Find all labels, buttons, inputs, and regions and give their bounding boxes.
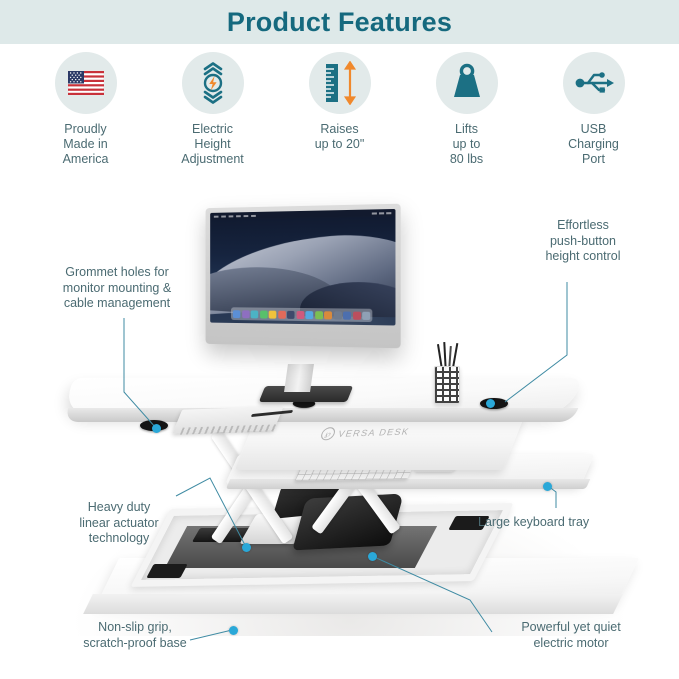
dock-icon [353,311,361,319]
usa-flag-icon [55,52,117,114]
feature-lift-capacity: Lifts up to 80 lbs [408,52,526,167]
menu-bar-status-icons [372,212,392,214]
dock-icon [305,311,313,319]
weight-icon [436,52,498,114]
dock-icon [315,311,323,319]
callout-dot-push [486,399,495,408]
feature-electric-height: Electric Height Adjustment [154,52,272,167]
feature-raises-height: Raises up to 20" [281,52,399,152]
page-title: Product Features [227,7,452,38]
feature-usb-port: USB Charging Port [535,52,653,167]
brand-logo-text: VERSA DESK [337,426,411,438]
dock-icon [296,310,304,318]
callout-electric-motor: Powerful yet quiet electric motor [478,620,664,651]
keyboard-tray-edge [226,479,590,489]
feature-label: Raises up to 20" [315,122,365,152]
callout-non-slip-base: Non-slip grip, scratch-proof base [40,620,230,651]
feature-label: Lifts up to 80 lbs [450,122,483,167]
monitor-screen [210,209,395,326]
usb-icon [563,52,625,114]
dock-icon [260,310,268,318]
feature-label: USB Charging Port [568,122,619,167]
callout-dot-nonslip [229,626,238,635]
dock [231,307,372,322]
feature-label: Electric Height Adjustment [181,122,244,167]
callout-push-button: Effortless push-button height control [498,218,668,265]
pencil-cup [434,366,460,404]
callout-dot-actuator [242,543,251,552]
brand-logo-mark: ℘ [319,427,336,440]
callout-dot-motor [368,552,377,561]
dock-icon [362,311,370,319]
dock-icon [343,311,351,319]
dock-icon [233,310,240,318]
monitor-stand-neck [284,364,314,392]
callout-keyboard-tray: Large keyboard tray [478,515,656,531]
menu-bar [210,209,395,220]
header-banner: Product Features [0,0,679,44]
desk-front-edge [83,594,623,614]
callout-grommet-holes: Grommet holes for monitor mounting & cab… [22,265,212,312]
dock-icon [324,311,332,319]
product-features-infographic: Product Features [0,0,679,679]
callout-dot-grommet [152,424,161,433]
ruler-arrow-icon [309,52,371,114]
dock-icon [269,310,277,318]
dock-icon [242,310,250,318]
dock-icon [333,311,341,319]
dock-icon [287,310,295,318]
callout-linear-actuator: Heavy duty linear actuator technology [44,500,194,547]
callout-dot-keyboard [543,482,552,491]
feature-icon-strip: Proudly Made in America Electric Height … [0,52,679,184]
upper-surface-edge [64,408,579,422]
monitor [206,204,401,349]
electric-height-icon [182,52,244,114]
dock-icon [278,310,286,318]
feature-made-in-america: Proudly Made in America [27,52,145,167]
dock-icon [251,310,259,318]
riser-front-panel [235,414,526,470]
feature-label: Proudly Made in America [63,122,109,167]
